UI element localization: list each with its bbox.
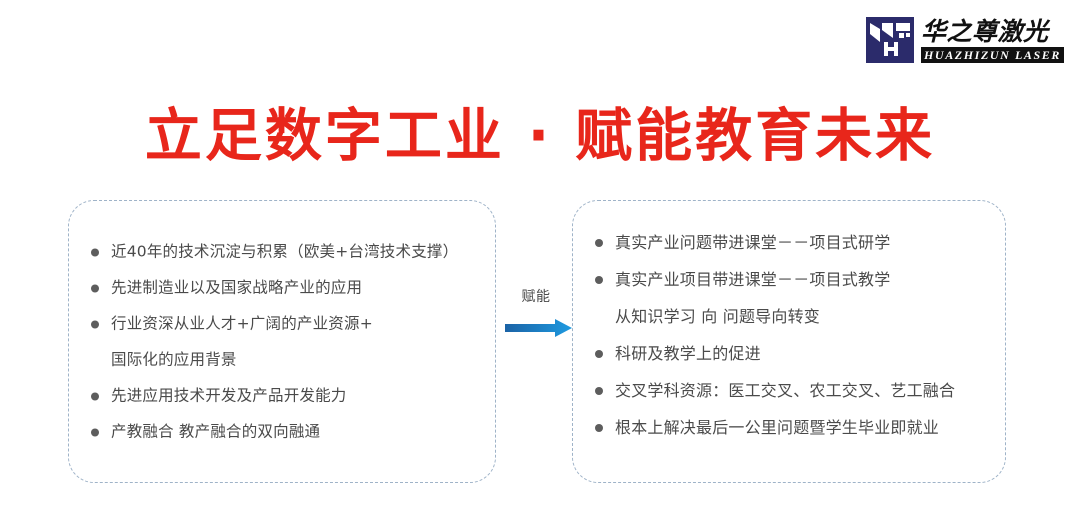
bullet-icon	[595, 350, 603, 358]
education-outcomes-panel: 真实产业问题带进课堂－－项目式研学 真实产业项目带进课堂－－项目式教学 从知识学…	[572, 200, 1006, 483]
bullet-icon	[91, 248, 99, 256]
list-item: 先进应用技术开发及产品开发能力	[91, 384, 473, 407]
bullet-icon	[595, 276, 603, 284]
list-item: 交叉学科资源：医工交叉、农工交叉、艺工融合	[595, 379, 983, 402]
bullet-icon-placeholder	[595, 313, 603, 321]
brand-name-cn: 华之尊激光	[921, 18, 1064, 45]
brand-logo-text: 华之尊激光 HUAZHIZUN LASER	[921, 17, 1064, 63]
connector-label: 赋能	[505, 288, 567, 306]
list-item-label: 产教融合 教产融合的双向融通	[111, 420, 320, 443]
bullet-icon-placeholder	[91, 356, 99, 364]
bullet-icon	[91, 392, 99, 400]
brand-name-en: HUAZHIZUN LASER	[921, 47, 1064, 63]
connector-group: 赋能	[505, 288, 577, 348]
capabilities-list: 近40年的技术沉淀与积累（欧美+台湾技术支撑） 先进制造业以及国家战略产业的应用…	[69, 240, 495, 443]
list-item-label: 科研及教学上的促进	[615, 342, 761, 365]
list-item: 真实产业问题带进课堂－－项目式研学	[595, 231, 983, 254]
bullet-icon	[91, 428, 99, 436]
arrow-right-icon	[505, 318, 577, 338]
list-item-label: 真实产业项目带进课堂－－项目式教学	[615, 268, 890, 291]
list-item-label: 真实产业问题带进课堂－－项目式研学	[615, 231, 890, 254]
bullet-icon	[595, 387, 603, 395]
list-item: 科研及教学上的促进	[595, 342, 983, 365]
list-item-label: 根本上解决最后一公里问题暨学生毕业即就业	[615, 416, 939, 439]
list-item: 先进制造业以及国家战略产业的应用	[91, 276, 473, 299]
page-title: 立足数字工业 · 赋能教育未来	[0, 103, 1080, 169]
list-item-label: 先进应用技术开发及产品开发能力	[111, 384, 347, 407]
list-item: 产教融合 教产融合的双向融通	[91, 420, 473, 443]
capabilities-panel: 近40年的技术沉淀与积累（欧美+台湾技术支撑） 先进制造业以及国家战略产业的应用…	[68, 200, 496, 483]
list-item-label: 从知识学习 向 问题导向转变	[615, 305, 820, 328]
bullet-icon	[91, 284, 99, 292]
education-outcomes-list: 真实产业问题带进课堂－－项目式研学 真实产业项目带进课堂－－项目式教学 从知识学…	[573, 231, 1005, 453]
brand-logo: 华之尊激光 HUAZHIZUN LASER	[866, 17, 1064, 63]
list-item-label: 国际化的应用背景	[111, 348, 237, 371]
list-item: 近40年的技术沉淀与积累（欧美+台湾技术支撑）	[91, 240, 473, 263]
bullet-icon	[595, 424, 603, 432]
list-item-continuation: 国际化的应用背景	[91, 348, 473, 371]
list-item-label: 行业资深从业人才+广阔的产业资源+	[111, 312, 373, 335]
list-item-label: 先进制造业以及国家战略产业的应用	[111, 276, 362, 299]
list-item-continuation: 从知识学习 向 问题导向转变	[595, 305, 983, 328]
huazhizun-logo-mark-icon	[866, 17, 914, 63]
list-item: 行业资深从业人才+广阔的产业资源+	[91, 312, 473, 335]
list-item-label: 交叉学科资源：医工交叉、农工交叉、艺工融合	[615, 379, 955, 402]
slide-root: 华之尊激光 HUAZHIZUN LASER 立足数字工业 · 赋能教育未来 近4…	[0, 0, 1080, 511]
list-item-label: 近40年的技术沉淀与积累（欧美+台湾技术支撑）	[111, 240, 458, 263]
bullet-icon	[91, 320, 99, 328]
list-item: 真实产业项目带进课堂－－项目式教学	[595, 268, 983, 291]
bullet-icon	[595, 239, 603, 247]
list-item: 根本上解决最后一公里问题暨学生毕业即就业	[595, 416, 983, 439]
